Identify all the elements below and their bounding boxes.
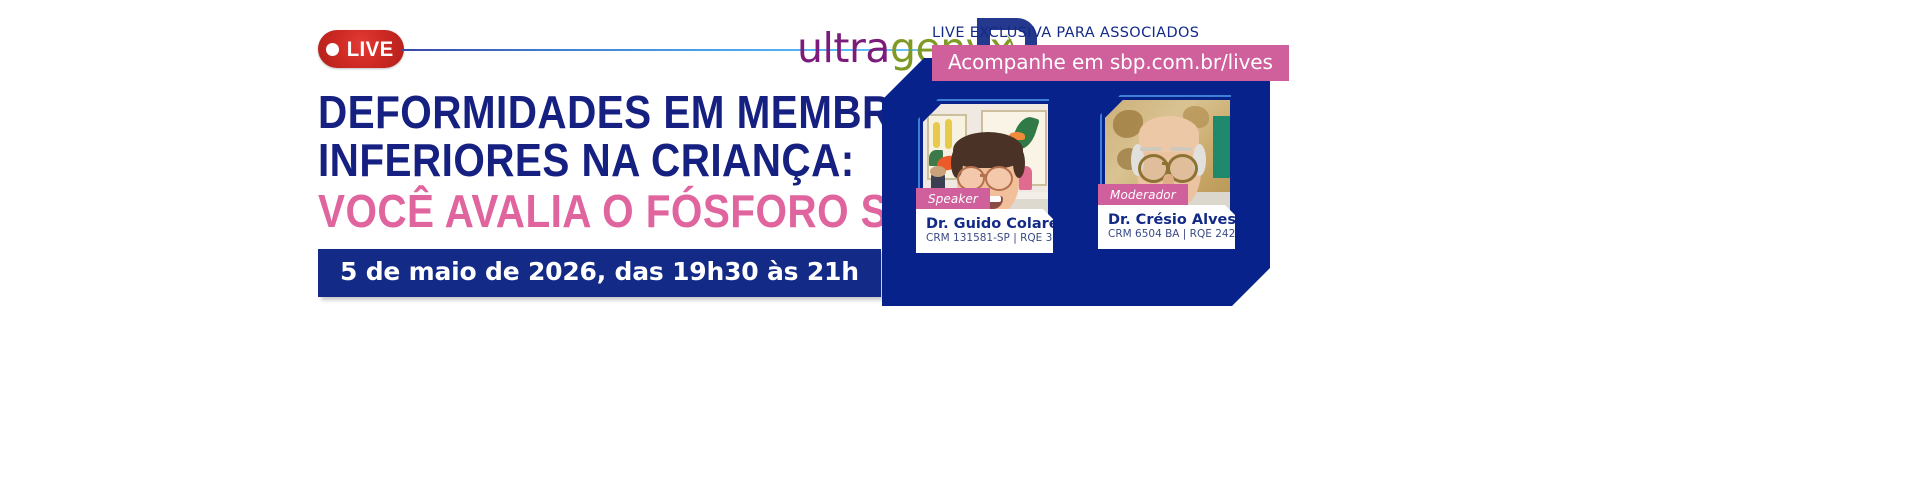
portrait-hair-side bbox=[1013, 148, 1025, 178]
live-dot-icon bbox=[326, 43, 339, 56]
ultragenyx-logo-part1: ultra bbox=[797, 24, 890, 72]
speaker-card: Speaker Dr. Guido Colares CRM 131581-SP … bbox=[918, 99, 1053, 245]
photo-deco-leaf bbox=[945, 119, 952, 149]
panel-cta-label: Acompanhe em sbp.com.br/lives bbox=[948, 50, 1273, 74]
photo-deco-leaf bbox=[933, 122, 940, 148]
event-date-bar: 5 de maio de 2026, das 19h30 às 21h bbox=[318, 249, 881, 297]
speaker-credentials: CRM 131581-SP | RQE 300101 bbox=[926, 232, 1063, 245]
moderator-name: Dr. Crésio Alves bbox=[1108, 212, 1245, 228]
speaker-name: Dr. Guido Colares bbox=[926, 216, 1063, 232]
live-badge-label: LIVE bbox=[347, 39, 394, 60]
portrait-glasses-bridge bbox=[1162, 162, 1168, 165]
headline-line-2: INFERIORES NA CRIANÇA: bbox=[318, 136, 952, 184]
moderator-name-plate: Dr. Crésio Alves CRM 6504 BA | RQE 2425 bbox=[1098, 205, 1253, 249]
speaker-role-label: Speaker bbox=[928, 192, 978, 206]
moderator-role-label: Moderador bbox=[1110, 188, 1176, 202]
portrait-glasses-bridge bbox=[980, 174, 987, 177]
headline-line-1: DEFORMIDADES EM MEMBROS bbox=[318, 88, 952, 136]
headline-accent-line: VOCÊ AVALIA O FÓSFORO SÉRICO? bbox=[318, 184, 952, 238]
moderator-card: Moderador Dr. Crésio Alves CRM 6504 BA |… bbox=[1100, 95, 1235, 241]
moderator-credentials: CRM 6504 BA | RQE 2425 bbox=[1108, 228, 1245, 241]
moderator-role-tag: Moderador bbox=[1098, 184, 1188, 207]
panel-cta-bar[interactable]: Acompanhe em sbp.com.br/lives bbox=[932, 45, 1289, 81]
portrait-eyebrow bbox=[1170, 147, 1192, 151]
live-badge: LIVE bbox=[318, 30, 404, 68]
event-date-text: 5 de maio de 2026, das 19h30 às 21h bbox=[340, 257, 859, 286]
speaker-role-tag: Speaker bbox=[916, 188, 990, 211]
portrait-eyebrow bbox=[1140, 147, 1162, 151]
photo-deco-toy-head bbox=[930, 166, 946, 177]
panel-kicker-text: LIVE EXCLUSIVA PARA ASSOCIADOS bbox=[932, 25, 1199, 41]
photo-deco-band bbox=[1213, 116, 1230, 178]
speaker-name-plate: Dr. Guido Colares CRM 131581-SP | RQE 30… bbox=[916, 209, 1071, 253]
